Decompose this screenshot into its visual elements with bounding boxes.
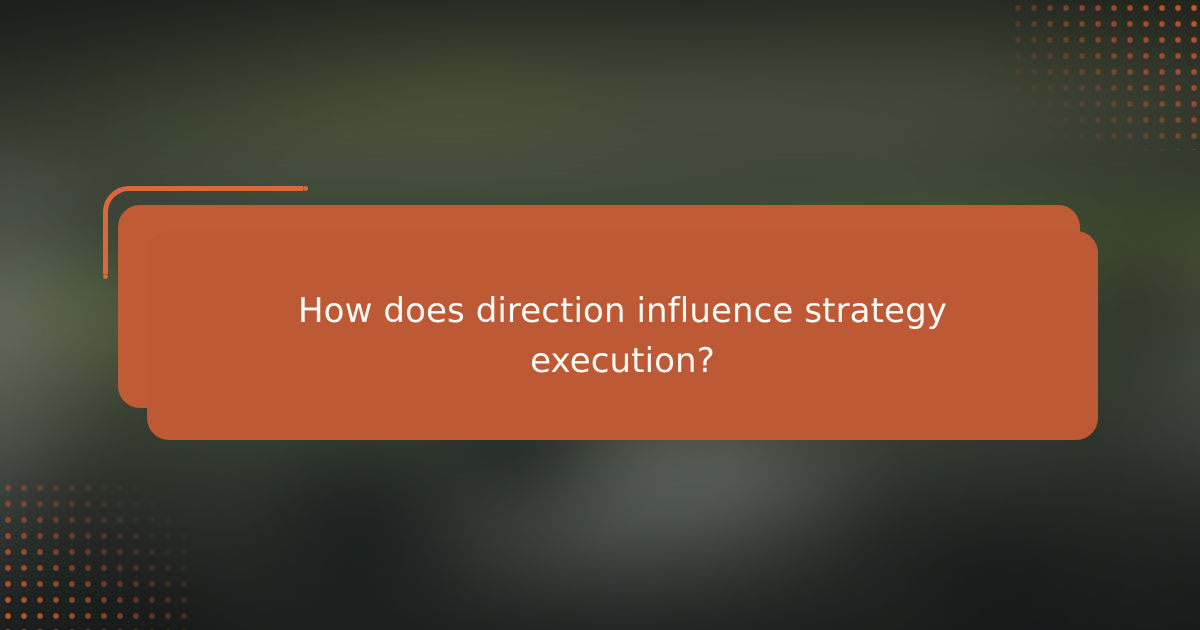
halftone-dots-top-right-icon xyxy=(1010,0,1200,150)
social-card-canvas: How does direction influence strategy ex… xyxy=(0,0,1200,630)
question-card: How does direction influence strategy ex… xyxy=(147,231,1098,440)
page-title: How does direction influence strategy ex… xyxy=(263,286,983,386)
halftone-dots-bottom-left-icon xyxy=(0,480,190,630)
